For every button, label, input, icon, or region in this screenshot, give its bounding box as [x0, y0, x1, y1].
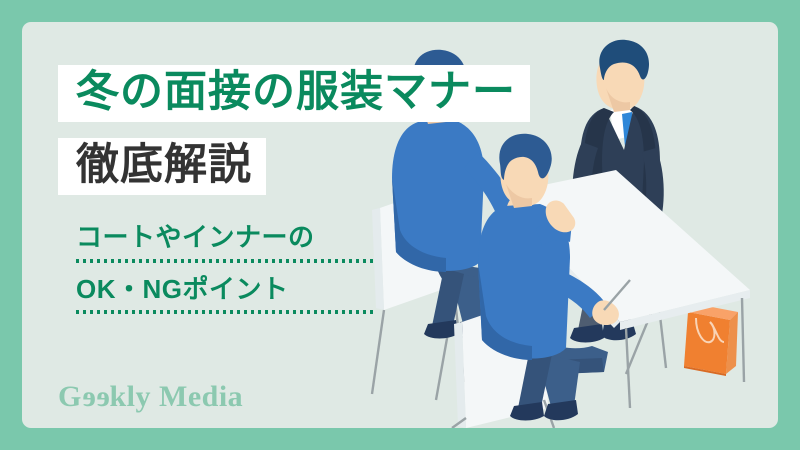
headline-block: 冬の面接の服装マナー 徹底解説 コートやインナーの OK・NGポイント — [58, 65, 618, 324]
subtitle-line-1: コートやインナーの — [76, 221, 376, 254]
title-line-1: 冬の面接の服装マナー — [58, 65, 530, 122]
logo-part-rest: kly Media — [110, 380, 244, 413]
subtitle-line-2: OK・NGポイント — [76, 273, 376, 306]
subtitle-row-1: コートやインナーの — [76, 221, 376, 263]
shopping-bag — [684, 304, 738, 376]
logo-part-e1: e — [82, 380, 96, 414]
logo-geekly-media: Geekly Media — [58, 380, 243, 414]
subtitle-dotted-rule-1 — [76, 259, 376, 263]
inner-panel: .tbl { fill:#f4f7f8; } .tbl2 { fill:#e7e… — [22, 22, 778, 428]
logo-part-e2: e — [96, 380, 110, 414]
subtitle-row-2: OK・NGポイント — [76, 273, 376, 315]
banner-root: .tbl { fill:#f4f7f8; } .tbl2 { fill:#e7e… — [0, 0, 800, 450]
subtitle-block: コートやインナーの OK・NGポイント — [58, 221, 618, 314]
subtitle-dotted-rule-2 — [76, 310, 376, 314]
logo-part-g: G — [58, 380, 82, 413]
title-line-2: 徹底解説 — [58, 138, 266, 195]
